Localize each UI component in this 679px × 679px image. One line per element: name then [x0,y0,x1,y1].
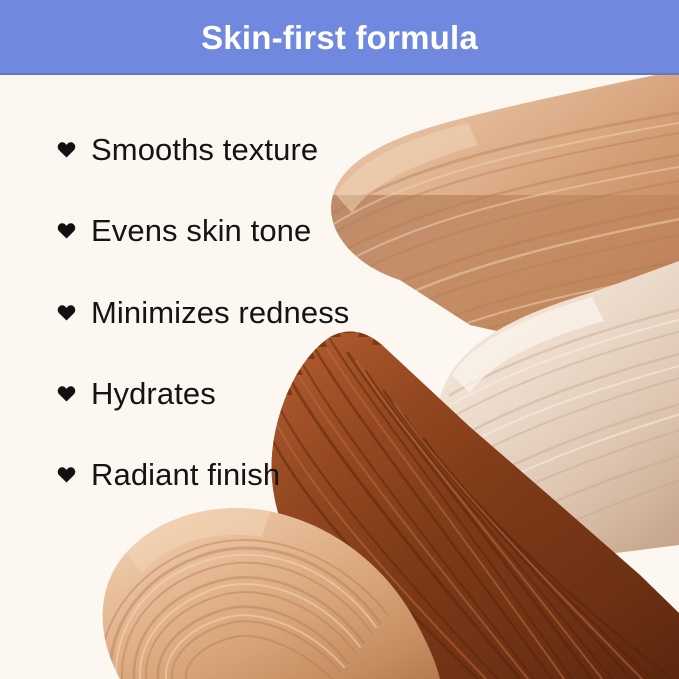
list-item: Minimizes redness [56,290,349,334]
medium-tan-swatch [320,75,679,375]
warm-caramel-swatch [90,485,460,679]
deep-brown-swatch [250,311,679,679]
heart-icon [56,464,77,485]
heart-icon [56,383,77,404]
header-band: Skin-first formula [0,0,679,75]
page-title: Skin-first formula [201,21,478,54]
list-item: Evens skin tone [56,208,311,252]
skin-first-formula-infographic: Skin-first formula Smooths texture Evens… [0,0,679,679]
list-item-label: Radiant finish [91,459,280,490]
list-item: Smooths texture [56,127,318,171]
list-item-label: Minimizes redness [91,297,349,328]
heart-icon [56,139,77,160]
list-item: Radiant finish [56,452,280,496]
list-item: Hydrates [56,371,216,415]
list-item-label: Hydrates [91,378,216,409]
light-beige-swatch [420,245,679,565]
heart-icon [56,220,77,241]
heart-icon [56,302,77,323]
list-item-label: Evens skin tone [91,215,311,246]
list-item-label: Smooths texture [91,134,318,165]
